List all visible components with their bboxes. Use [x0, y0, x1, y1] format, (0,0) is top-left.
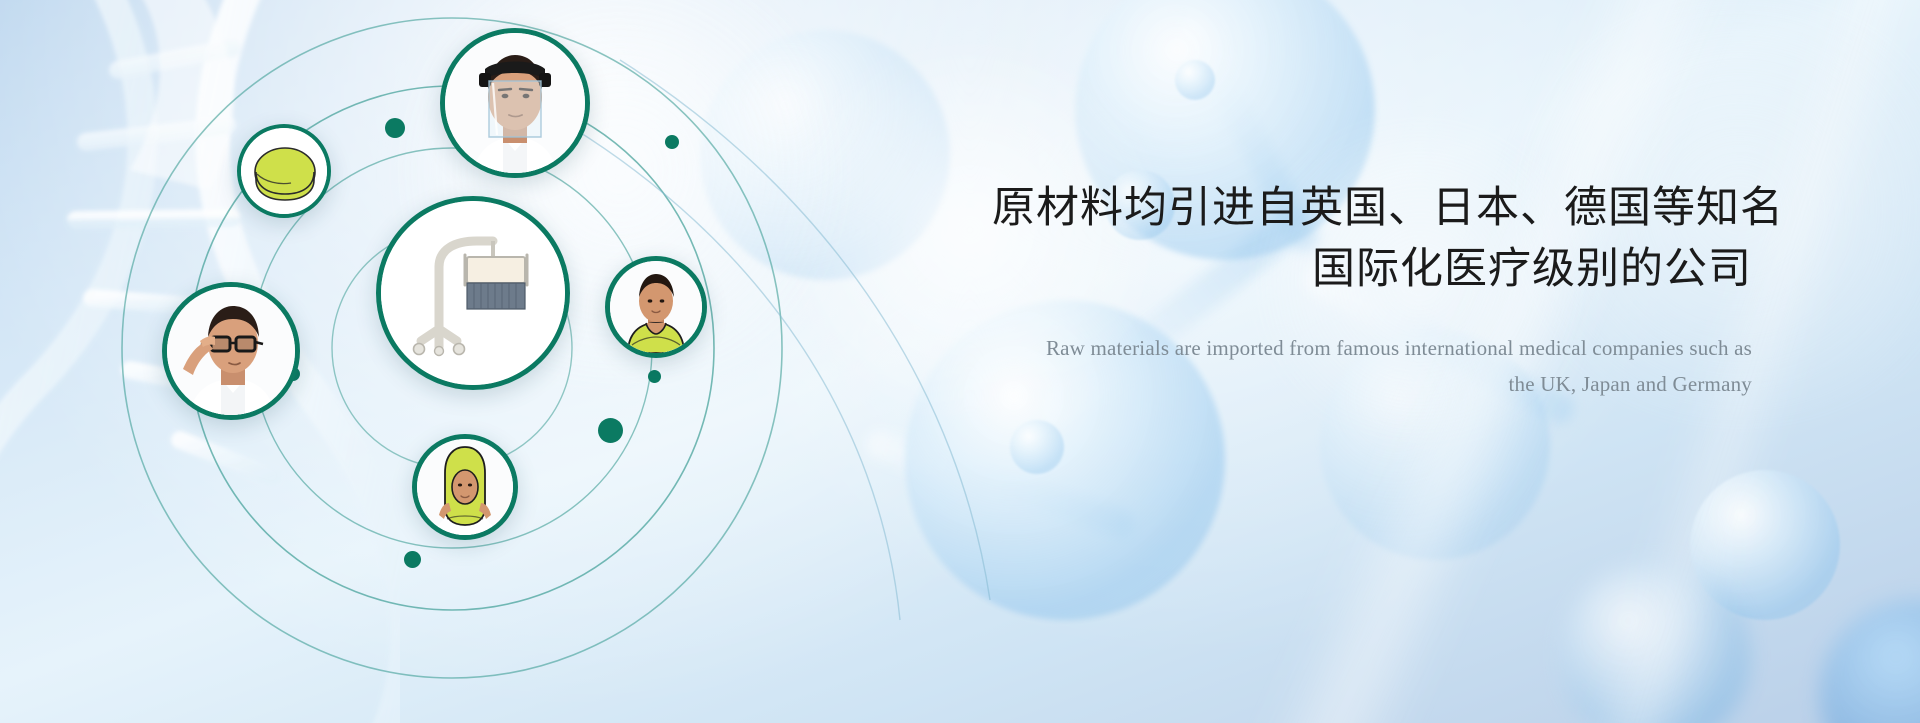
headline-line-2: 国际化医疗级别的公司 — [992, 239, 1752, 300]
molecule-sphere — [1010, 420, 1064, 474]
doctor-lead-glasses-photo — [167, 287, 295, 415]
bubble-doctor-face-shield[interactable] — [440, 28, 590, 178]
dot-upper-right — [665, 135, 679, 149]
dot-large-center — [598, 418, 623, 443]
headline-line-1: 原材料均引进自英国、日本、德国等知名 — [992, 184, 1784, 232]
bubble-mobile-lead-shield-screen[interactable] — [376, 196, 570, 390]
hero-banner: 原材料均引进自英国、日本、德国等知名 国际化医疗级别的公司 Raw materi… — [0, 0, 1920, 723]
subtitle: Raw materials are imported from famous i… — [992, 330, 1752, 402]
dot-mid-right — [648, 370, 661, 383]
doctor-face-shield-photo — [445, 33, 585, 173]
molecule-sphere — [1175, 60, 1215, 100]
banner-copy: 原材料均引进自英国、日本、德国等知名 国际化医疗级别的公司 Raw materi… — [992, 178, 1752, 402]
subtitle-line-2: the UK, Japan and Germany — [992, 366, 1752, 402]
bubble-woman-lead-hood[interactable] — [412, 434, 518, 540]
lead-cap-icon — [241, 128, 327, 214]
bokeh-sphere — [1820, 600, 1920, 723]
dot-upper-left — [385, 118, 405, 138]
headline: 原材料均引进自英国、日本、德国等知名 国际化医疗级别的公司 — [992, 178, 1752, 300]
bubble-lead-cap-product[interactable] — [237, 124, 331, 218]
woman-lead-hood-photo — [417, 439, 513, 535]
subtitle-line-1: Raw materials are imported from famous i… — [992, 330, 1752, 366]
bubble-woman-thyroid-collar[interactable] — [605, 256, 707, 358]
dot-bottom — [404, 551, 421, 568]
mobile-lead-shield-icon — [381, 201, 565, 385]
bubble-doctor-lead-glasses[interactable] — [162, 282, 300, 420]
woman-thyroid-collar-photo — [610, 261, 702, 353]
